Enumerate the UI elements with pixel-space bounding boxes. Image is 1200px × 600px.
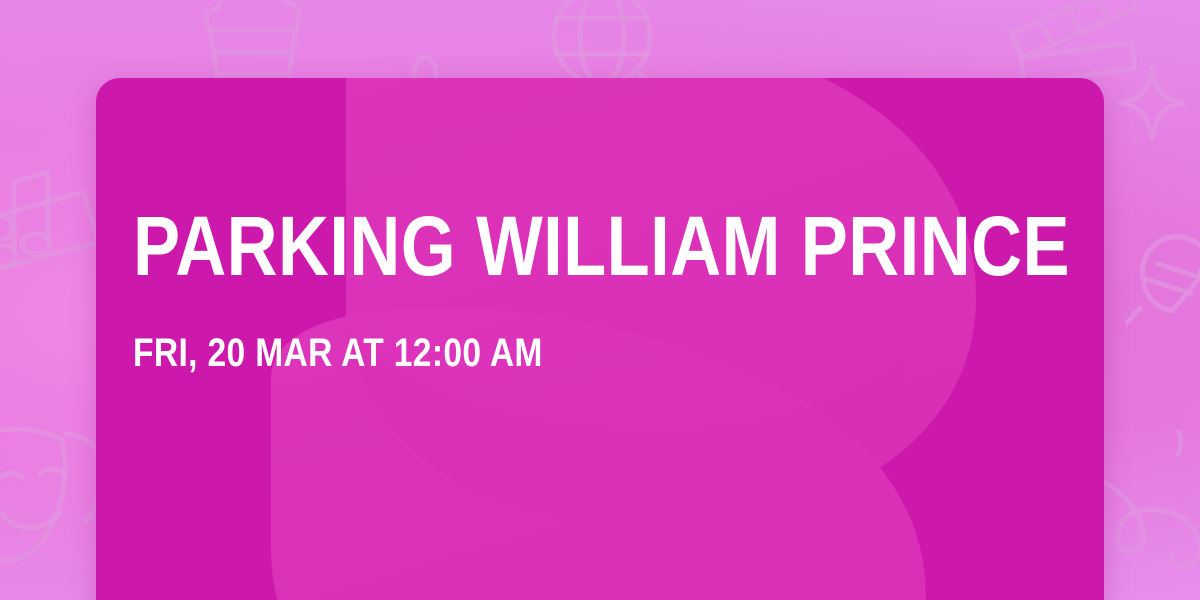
event-banner: Parking William Prince Fri, 20 Mar at 12… (0, 0, 1200, 600)
event-details: Parking William Prince Fri, 20 Mar at 12… (133, 206, 1064, 373)
event-title: Parking William Prince (133, 206, 915, 287)
event-card[interactable]: Parking William Prince Fri, 20 Mar at 12… (96, 78, 1104, 600)
event-datetime: Fri, 20 Mar at 12:00 AM (133, 333, 915, 373)
